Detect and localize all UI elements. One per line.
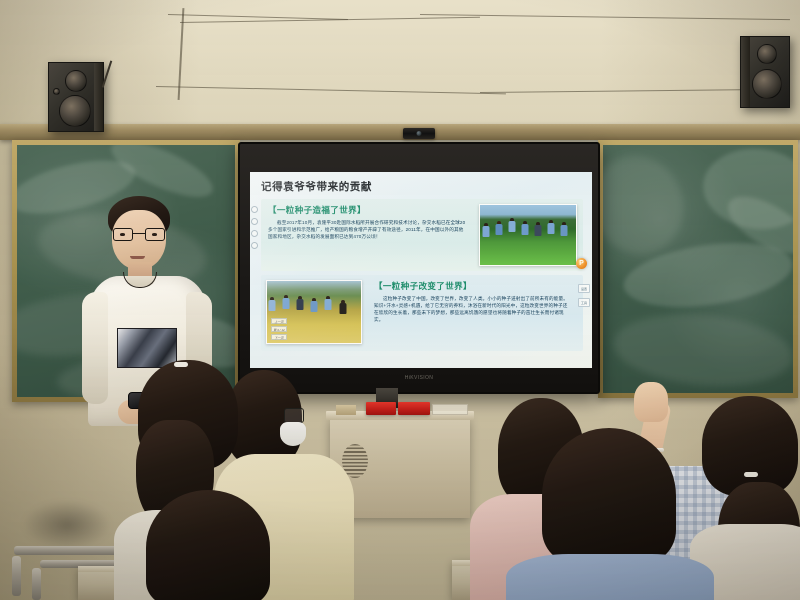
student-blue-shirt-boy [532,428,712,600]
figure-torso [509,221,516,232]
wall-ledge [0,124,800,140]
marker-dot[interactable] [251,242,258,249]
marker-dot[interactable] [251,218,258,225]
student-hair-short [542,428,676,564]
figure-torso [311,301,318,312]
slide-panel-2-heading: 【一粒种子改变了世界】 [374,280,576,292]
student-ponytail-right [700,396,800,600]
figure-torso [561,225,568,236]
figure-torso [297,299,304,310]
slide-panel-2-body: 这粒种子改变了中国，改变了世界，改变了人类。小小的种子迸射出了前所未有的能量。知… [374,295,570,323]
chalk-box-2 [398,402,430,415]
mini-label: 第 3 / 12 [271,326,287,332]
figure-torso [496,224,503,235]
classroom-photo-scene: 记得袁爷爷带来的贡献 【一粒种子造福了世界】 截至2017年10月，袁隆平30赴… [0,0,800,600]
figure-torso [283,298,290,309]
figure-torso [340,303,347,314]
slide-side-tab-2[interactable]: 工具 [578,298,590,307]
slide-left-marker-dots[interactable] [251,206,258,249]
figure-torso [522,224,529,235]
slide-photo-mini-labels: 上一页 第 3 / 12 下一页 [271,318,287,340]
hair-tie [744,472,758,477]
student-glasses-icon [284,408,304,423]
display-screen[interactable]: 记得袁爷爷带来的贡献 【一粒种子造福了世界】 截至2017年10月，袁隆平30赴… [250,172,592,368]
speaker-side-panel [741,37,750,107]
display-camera-icon [403,128,435,139]
glasses-bridge [133,233,145,234]
interactive-smart-display[interactable]: 记得袁爷爷带来的贡献 【一粒种子造福了世界】 截至2017年10月，袁隆平30赴… [238,142,600,394]
presentation-slide[interactable]: 记得袁爷爷带来的贡献 【一粒种子造福了世界】 截至2017年10月，袁隆平30赴… [250,172,592,368]
teacher-eye-left [120,233,125,236]
podium-plastic-tray [432,404,468,415]
hair-tie [174,362,188,367]
speaker-woofer-icon [752,69,782,99]
slide-panel-1-body: 截至2017年10月，袁隆平30赴国际水稻所开展合作研究和技术讨论，杂交水稻已在… [268,219,468,240]
marker-dot[interactable] [251,206,258,213]
student-raised-hand [634,382,668,422]
wall-pipe-vertical-1 [12,556,21,596]
chalk-smear [610,307,793,392]
slide-watermark-badge: P [576,258,587,269]
wall-pipe-horizontal [14,546,126,555]
figure-torso [535,225,542,236]
student-shirt [506,554,714,600]
slide-side-tab-1[interactable]: 设置 [578,284,590,293]
teacher-eye-right [152,233,157,236]
figure-torso [483,226,490,237]
student-dark-head-front-left [146,490,296,600]
student-face-mask [280,422,306,446]
speaker-side-panel [94,63,103,131]
camera-lens-icon [417,131,422,136]
wall-pipe-vertical-2 [32,568,41,600]
wall-stain [22,500,112,550]
rice-field-golden-photo: 上一页 第 3 / 12 下一页 [266,280,362,344]
speaker-tweeter-icon [65,70,87,92]
teacher-mouth [130,256,145,259]
blackboard-right [598,140,798,398]
teacher-arm-left [82,292,108,404]
figure-torso [269,300,276,311]
blackboard-right-surface [603,145,793,393]
mini-label: 下一页 [271,334,287,340]
student-hair [702,396,798,496]
marker-dot[interactable] [251,230,258,237]
speaker-tweeter-icon [757,44,777,64]
wall-speaker-right [740,36,790,108]
chalk-box-1 [366,402,396,415]
speaker-port-icon [53,88,60,95]
mini-label: 上一页 [271,318,287,324]
rice-field-green-photo [479,204,577,266]
slide-panel-2: 【一粒种子改变了世界】 这粒种子改变了中国，改变了世界，改变了人类。小小的种子迸… [261,275,583,351]
wall-speaker-left [48,62,104,132]
slide-title: 记得袁爷爷带来的贡献 [261,179,583,194]
figure-torso [548,223,555,234]
student-hair-short [146,490,270,600]
slide-panel-1: 【一粒种子造福了世界】 截至2017年10月，袁隆平30赴国际水稻所开展合作研究… [261,199,583,271]
figure-torso [325,299,332,310]
speaker-woofer-icon [59,95,91,127]
